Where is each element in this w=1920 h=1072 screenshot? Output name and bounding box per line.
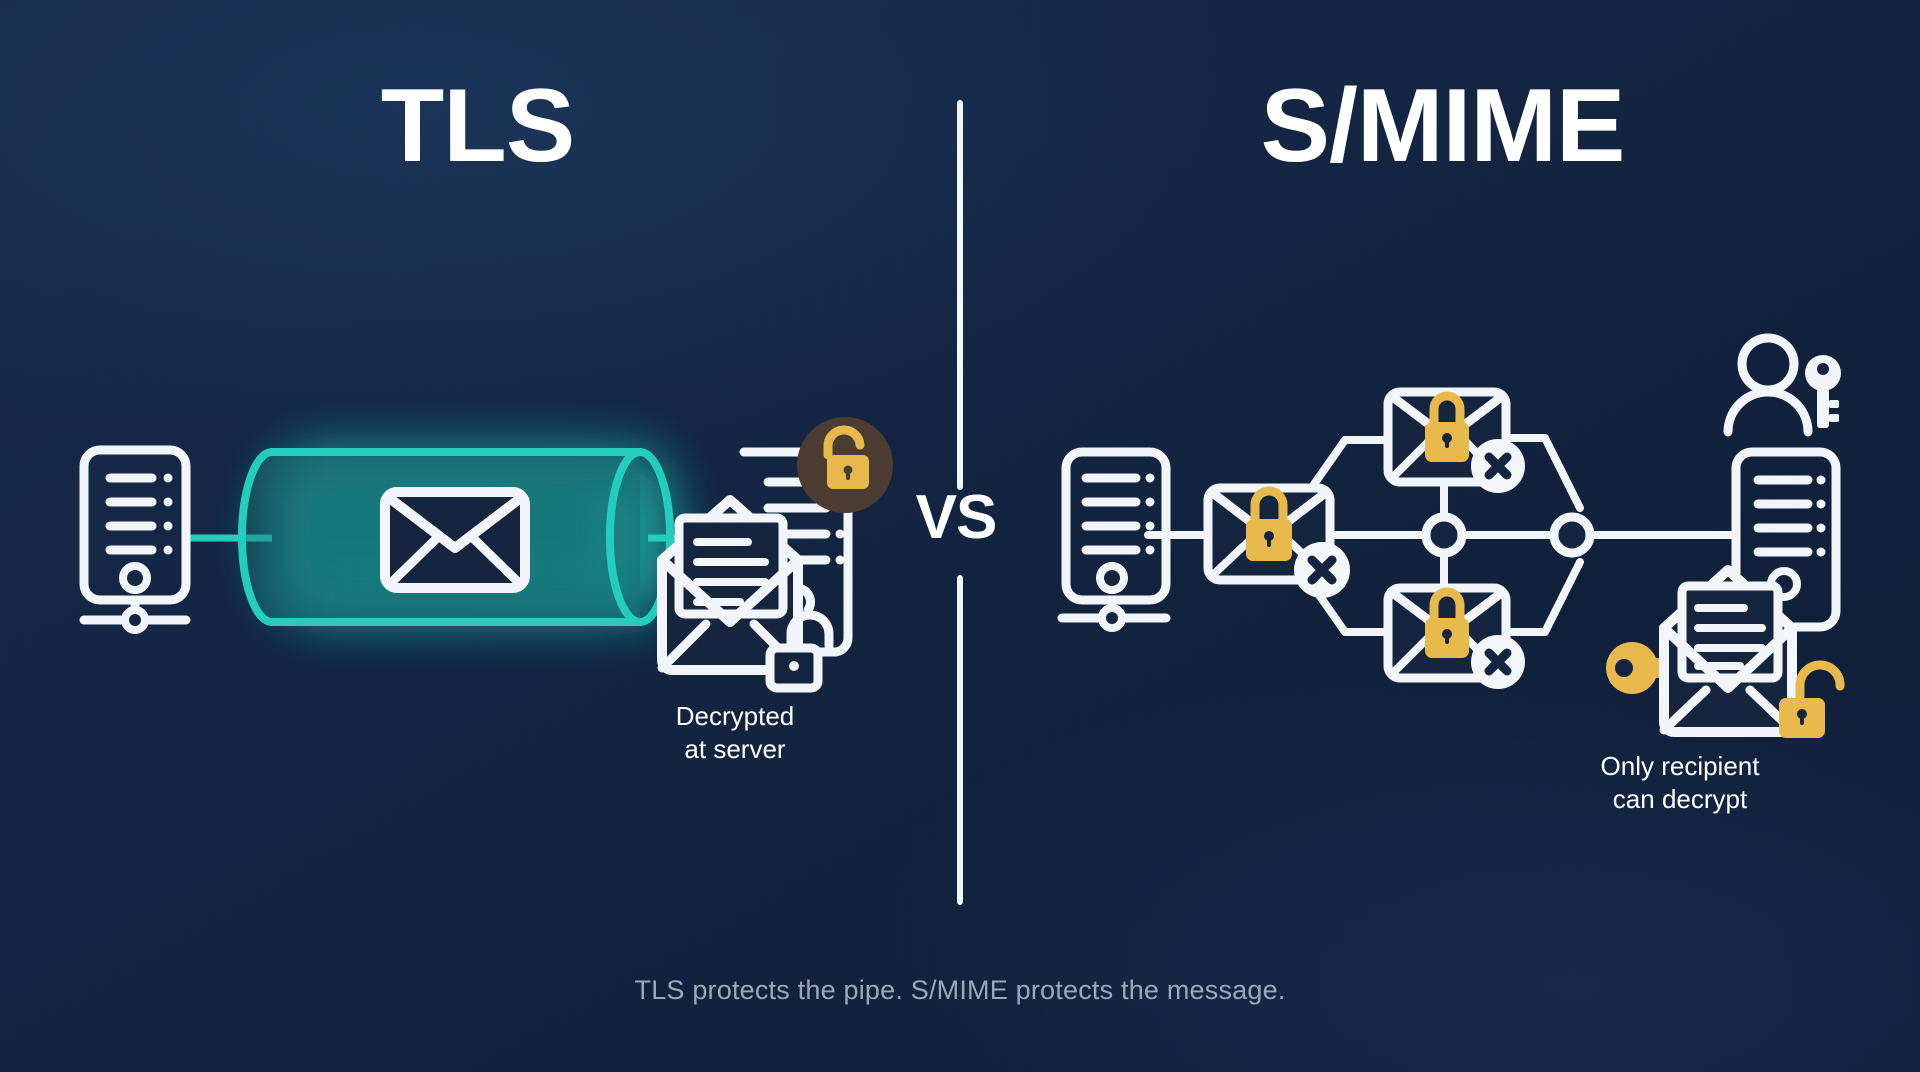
page-title-tls: TLS [0, 74, 955, 178]
footer-note: TLS protects the pipe. S/MIME protects t… [0, 975, 1920, 1006]
recipient-key-icon [1805, 355, 1841, 428]
center-divider-lower [957, 575, 963, 905]
locked-envelope-1 [1208, 488, 1350, 598]
center-divider-upper [957, 100, 963, 490]
sender-server-right-dots [1146, 474, 1155, 555]
left-panel-caption: Decrypted at server [600, 700, 870, 767]
no-access-badge-2 [1471, 439, 1525, 493]
no-access-badge-1 [1294, 542, 1350, 598]
no-access-badge-3 [1471, 635, 1525, 689]
right-panel-caption: Only recipient can decrypt [1520, 750, 1840, 817]
locked-envelope-3 [1388, 588, 1525, 689]
locked-envelope-2 [1388, 392, 1525, 493]
recipient-person-icon [1728, 338, 1808, 432]
page-title-smime: S/MIME [965, 74, 1920, 178]
recipient-server-dots [1817, 476, 1826, 557]
infographic-canvas: TLS S/MIME VS Decrypted at server Only r… [0, 0, 1920, 1072]
vs-label: VS [896, 487, 1016, 549]
open-envelope-right [1664, 570, 1792, 732]
